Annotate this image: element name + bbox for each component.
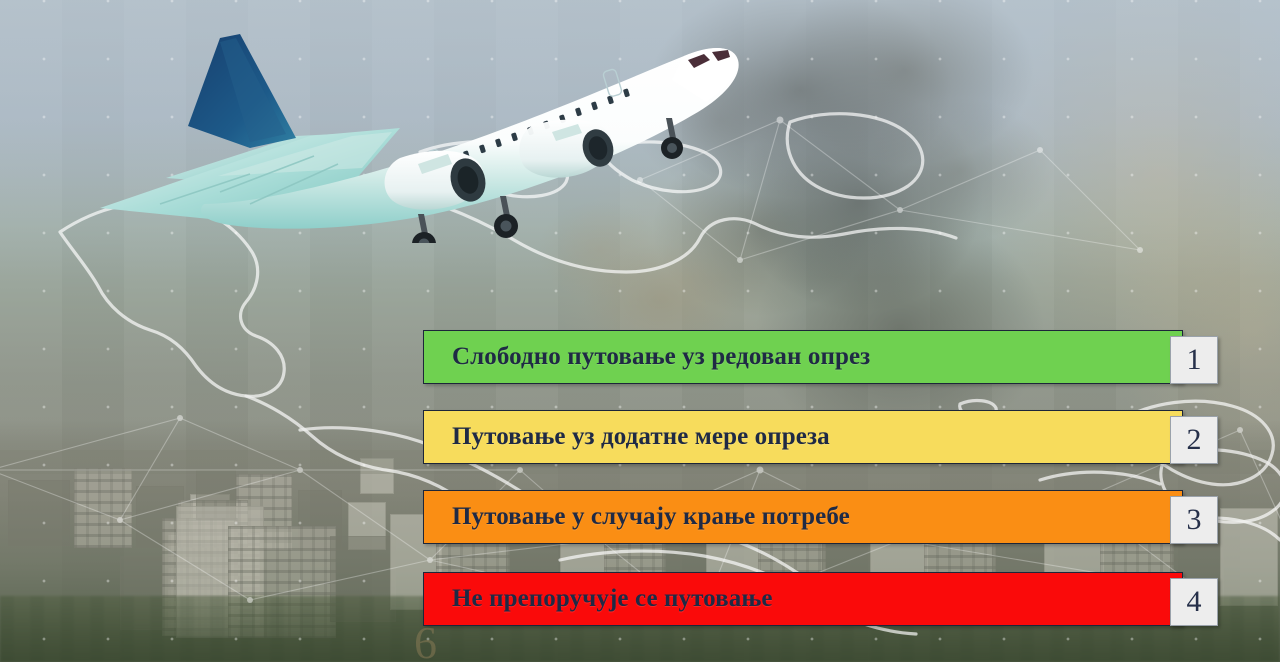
level-label-3: Путовање у случају крање потребе	[424, 503, 850, 531]
level-bar-4[interactable]: Не препоручује се путовање	[423, 572, 1183, 626]
travel-advisory-levels: Слободно путовање уз редован опрез 1 Пут…	[0, 0, 1280, 662]
level-number-1: 1	[1170, 336, 1218, 384]
level-number-2: 2	[1170, 416, 1218, 464]
level-bar-1[interactable]: Слободно путовање уз редован опрез	[423, 330, 1183, 384]
level-label-1: Слободно путовање уз редован опрез	[424, 343, 870, 371]
level-number-4: 4	[1170, 578, 1218, 626]
level-bar-2[interactable]: Путовање уз додатне мере опреза	[423, 410, 1183, 464]
level-number-3: 3	[1170, 496, 1218, 544]
slide-canvas: Слободно путовање уз редован опрез 1 Пут…	[0, 0, 1280, 662]
level-label-4: Не препоручује се путовање	[424, 585, 773, 613]
level-bar-3[interactable]: Путовање у случају крање потребе	[423, 490, 1183, 544]
level-label-2: Путовање уз додатне мере опреза	[424, 423, 830, 451]
page-number-watermark: 6	[414, 620, 437, 662]
